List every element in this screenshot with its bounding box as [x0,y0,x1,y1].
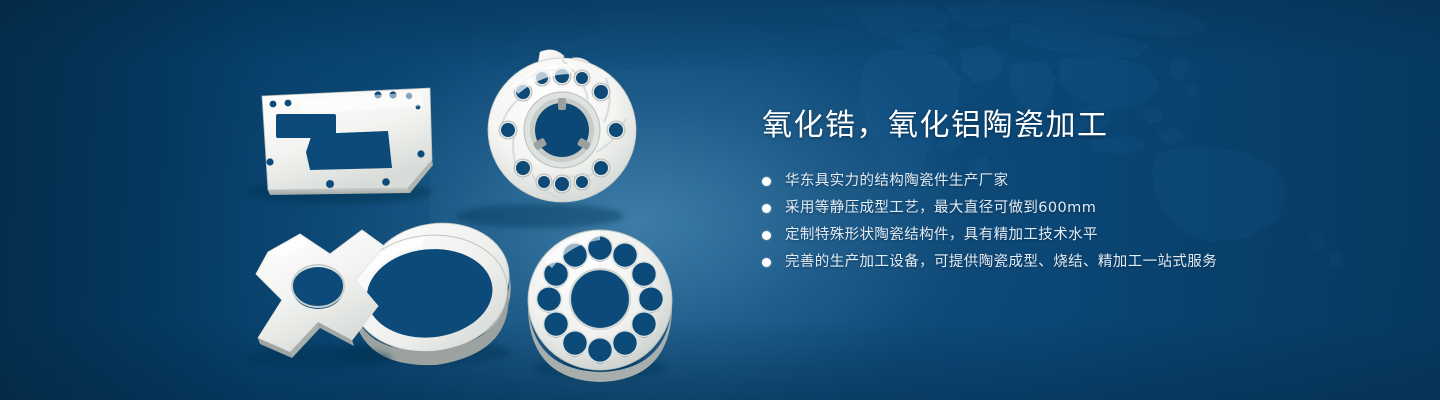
bullet-dot-icon [762,231,771,240]
list-item: 定制特殊形状陶瓷结构件，具有精加工技术水平 [762,226,1382,245]
product-photo-cluster [0,0,760,400]
hero-banner: 氧化锆，氧化铝陶瓷加工 华东具实力的结构陶瓷件生产厂家 采用等静压成型工艺，最大… [0,0,1440,400]
list-item: 华东具实力的结构陶瓷件生产厂家 [762,172,1382,191]
ceramic-perforated-disc [528,230,672,382]
banner-copy: 氧化锆，氧化铝陶瓷加工 华东具实力的结构陶瓷件生产厂家 采用等静压成型工艺，最大… [762,106,1382,280]
list-item: 完善的生产加工设备，可提供陶瓷成型、烧结、精加工一站式服务 [762,253,1382,272]
list-item: 采用等静压成型工艺，最大直径可做到600mm [762,199,1382,218]
bullet-dot-icon [762,204,771,213]
feature-text: 定制特殊形状陶瓷结构件，具有精加工技术水平 [785,226,1098,245]
feature-text: 采用等静压成型工艺，最大直径可做到600mm [785,199,1096,218]
ceramic-impeller [456,50,636,228]
feature-text: 华东具实力的结构陶瓷件生产厂家 [785,172,1009,191]
feature-text: 完善的生产加工设备，可提供陶瓷成型、烧结、精加工一站式服务 [785,253,1217,272]
ceramic-machined-plate [248,88,433,204]
page-title: 氧化锆，氧化铝陶瓷加工 [762,106,1382,146]
bullet-dot-icon [762,258,771,267]
bullet-dot-icon [762,177,771,186]
feature-list: 华东具实力的结构陶瓷件生产厂家 采用等静压成型工艺，最大直径可做到600mm 定… [762,172,1382,272]
